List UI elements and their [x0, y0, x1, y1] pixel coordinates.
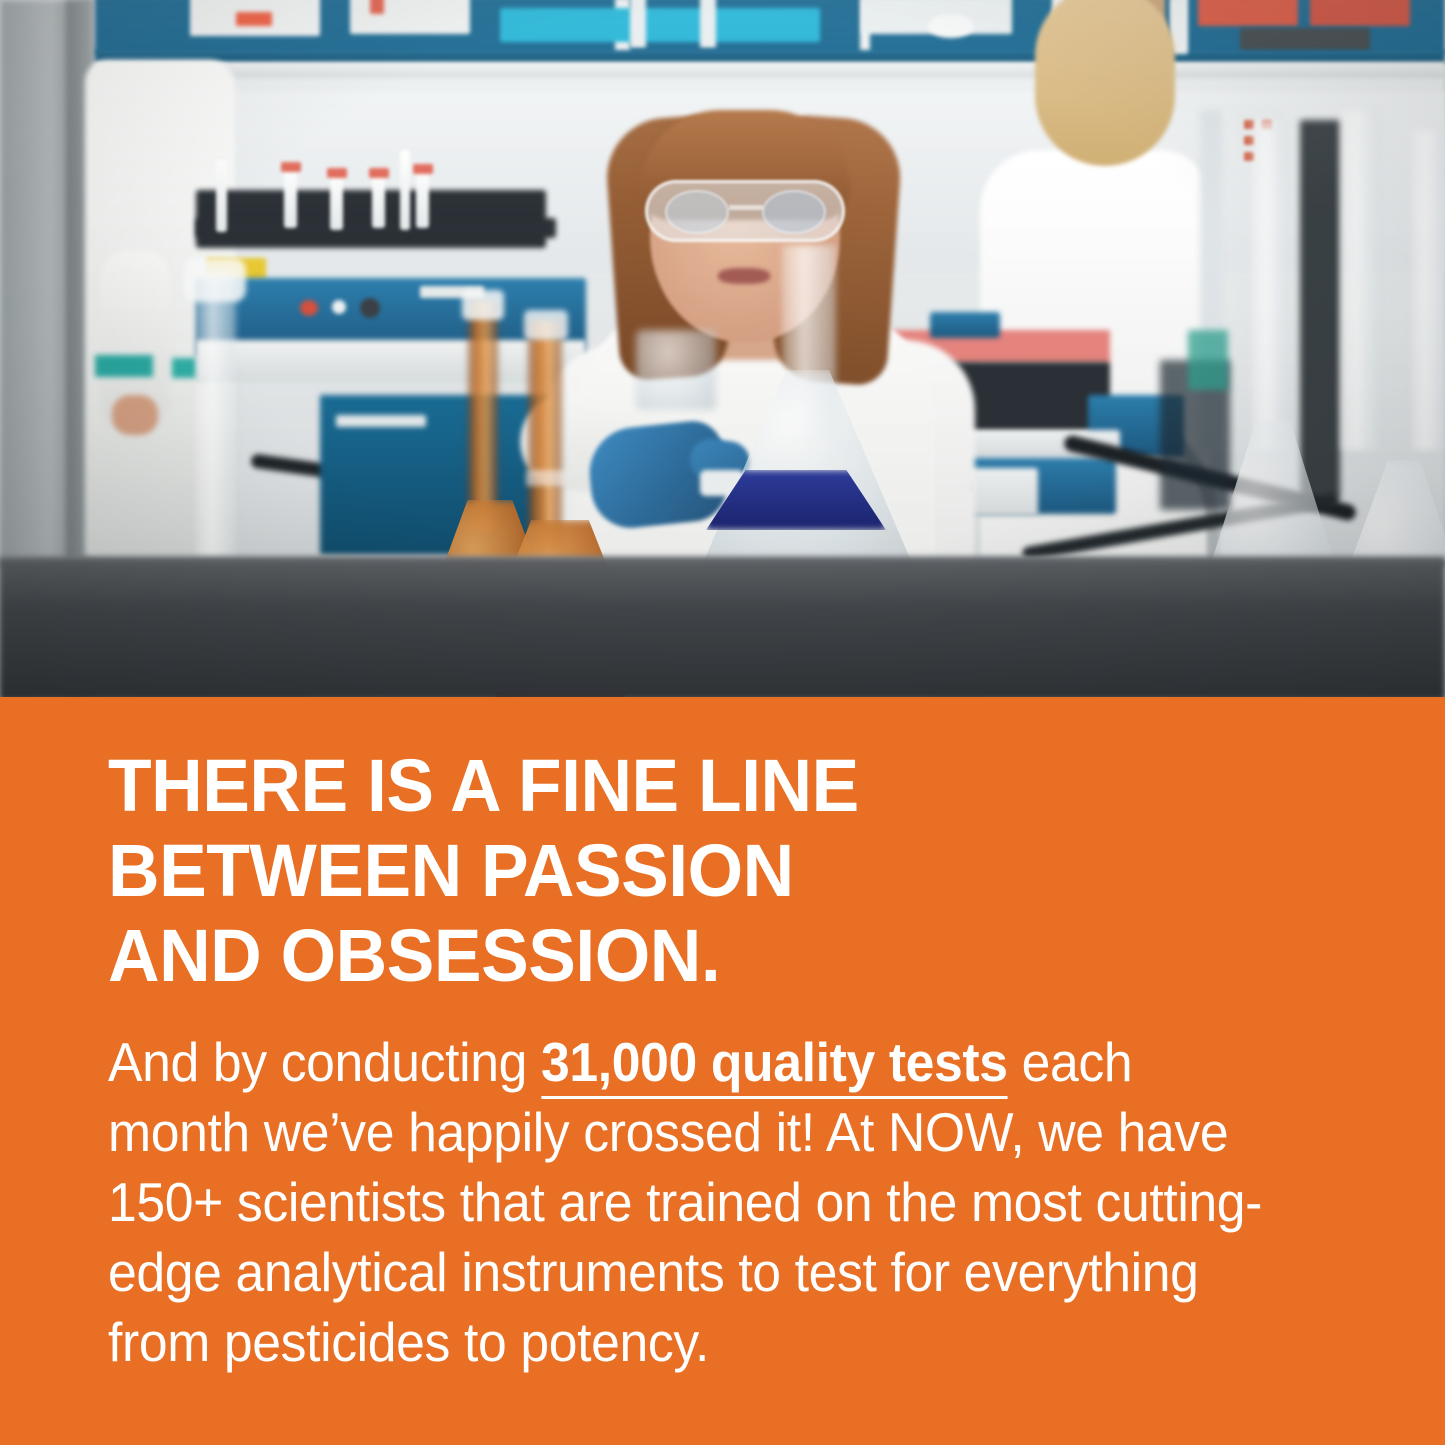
quality-tests-highlight: 31,000 quality tests: [541, 1031, 1008, 1099]
body-text-part-1: And by conducting: [108, 1031, 541, 1093]
page-title: THERE IS A FINE LINE BETWEEN PASSION AND…: [108, 743, 1314, 998]
photo-vignette: [0, 0, 1445, 697]
headline-line-3: AND OBSESSION.: [108, 913, 1314, 998]
laboratory-photo: 500: [0, 0, 1445, 697]
headline-line-2: BETWEEN PASSION: [108, 828, 1314, 913]
body-paragraph: And by conducting 31,000 quality tests e…: [108, 1027, 1264, 1377]
headline-line-1: THERE IS A FINE LINE: [108, 743, 1314, 828]
orange-text-panel: THERE IS A FINE LINE BETWEEN PASSION AND…: [0, 697, 1445, 1445]
poster-container: 500 THERE IS A FINE LINE BETWEEN PASSION…: [0, 0, 1445, 1445]
